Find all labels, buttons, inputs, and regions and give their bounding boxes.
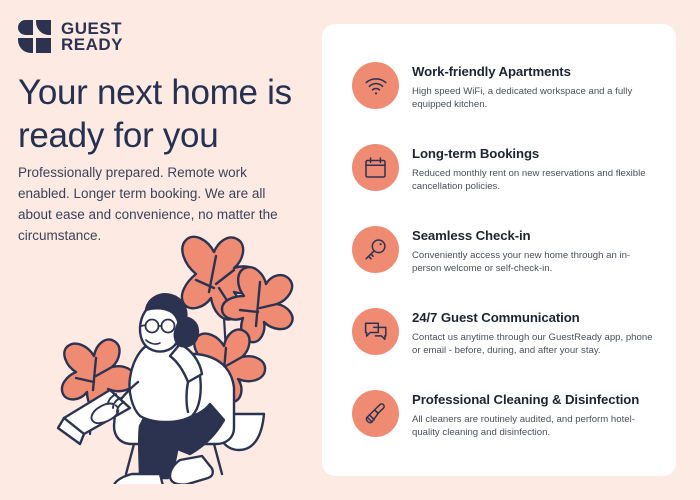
feature-text: Professional Cleaning & Disinfection All… xyxy=(412,390,658,440)
feature-title: Work-friendly Apartments xyxy=(412,64,658,81)
key-icon xyxy=(352,226,399,273)
features-list: Work-friendly Apartments High speed WiFi… xyxy=(322,24,676,476)
chat-bubbles-icon xyxy=(352,308,399,355)
feature-description: Reduced monthly rent on new reservations… xyxy=(412,167,658,194)
calendar-icon xyxy=(352,144,399,191)
feature-item-seamless-check-in[interactable]: Seamless Check-in Conveniently access yo… xyxy=(352,226,658,276)
feature-description: Contact us anytime through our GuestRead… xyxy=(412,331,658,358)
feature-item-work-friendly-apartments[interactable]: Work-friendly Apartments High speed WiFi… xyxy=(352,62,658,112)
feature-item-long-term-bookings[interactable]: Long-term Bookings Reduced monthly rent … xyxy=(352,144,658,194)
feature-text: Work-friendly Apartments High speed WiFi… xyxy=(412,62,658,112)
feature-title: Long-term Bookings xyxy=(412,146,658,163)
feature-item-professional-cleaning[interactable]: Professional Cleaning & Disinfection All… xyxy=(352,390,658,440)
woman-with-laptop-on-chair-with-plants-illustration xyxy=(28,222,318,484)
feature-title: 24/7 Guest Communication xyxy=(412,310,658,327)
feature-text: Seamless Check-in Conveniently access yo… xyxy=(412,226,658,276)
broom-icon xyxy=(352,390,399,437)
brand-wordmark: GUEST READY xyxy=(61,21,123,54)
brand-logo[interactable]: GUEST READY xyxy=(18,20,123,54)
wifi-icon xyxy=(352,62,399,109)
brand-name-line2: READY xyxy=(61,37,123,53)
feature-title: Seamless Check-in xyxy=(412,228,658,245)
feature-text: 24/7 Guest Communication Contact us anyt… xyxy=(412,308,658,358)
hero-column: GUEST READY Your next home is ready for … xyxy=(0,0,322,500)
feature-item-guest-communication[interactable]: 24/7 Guest Communication Contact us anyt… xyxy=(352,308,658,358)
features-card: Work-friendly Apartments High speed WiFi… xyxy=(322,24,676,476)
feature-description: All cleaners are routinely audited, and … xyxy=(412,413,658,440)
feature-description: High speed WiFi, a dedicated workspace a… xyxy=(412,85,658,112)
feature-description: Conveniently access your new home throug… xyxy=(412,249,658,276)
feature-title: Professional Cleaning & Disinfection xyxy=(412,392,658,409)
page-title: Your next home is ready for you xyxy=(18,72,308,157)
guestready-quadrant-logo-icon xyxy=(18,20,52,54)
feature-text: Long-term Bookings Reduced monthly rent … xyxy=(412,144,658,194)
promo-page: GUEST READY Your next home is ready for … xyxy=(0,0,700,500)
